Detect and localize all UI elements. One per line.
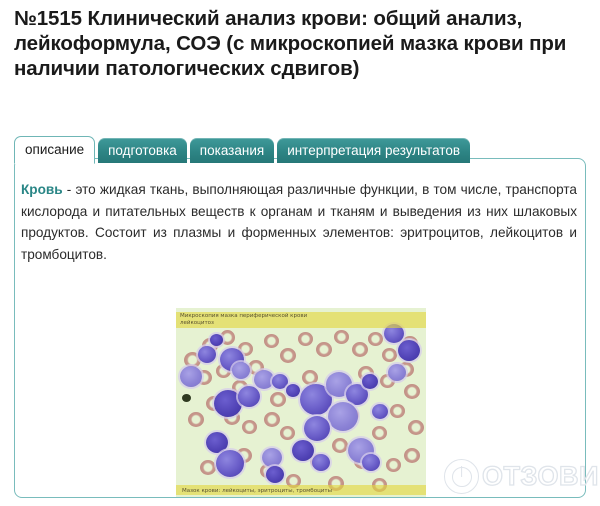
description-text: - это жидкая ткань, выполняющая различны… [21,182,577,262]
figure-band-top-label: Микроскопия мазка периферической крови [180,313,420,319]
tab-podgotovka[interactable]: подготовка [98,138,187,163]
tab-opisanie[interactable]: описание [14,136,95,164]
description-paragraph: Кровь - это жидкая ткань, выполняющая ра… [21,179,577,265]
blood-smear-image: Микроскопия мазка периферической крови л… [176,308,426,498]
tab-content-panel: Кровь - это жидкая ткань, выполняющая ра… [14,158,586,498]
figure-band-top-label-2: лейкоцитоз [180,320,300,326]
blood-smear-figure: Микроскопия мазка периферической крови л… [176,308,426,498]
tab-bar: описание подготовка показания интерпрета… [14,133,473,163]
page-title: №1515 Клинический анализ крови: общий ан… [14,6,574,81]
term-krov: Кровь [21,182,63,197]
figure-band-bottom-label: Мазок крови: лейкоциты, эритроциты, тром… [182,488,412,494]
tab-pokazaniya[interactable]: показания [190,138,274,163]
tab-interpretaciya-rezultatov[interactable]: интерпретация результатов [277,138,470,163]
